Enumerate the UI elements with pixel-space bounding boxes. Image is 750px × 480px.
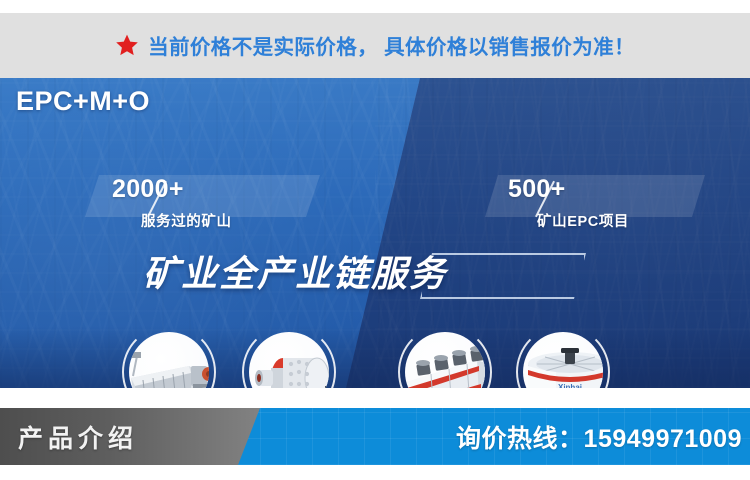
stat-label-projects: 矿山EPC项目 [537, 215, 629, 230]
epc-badge-text: EPC+M+O [16, 88, 150, 115]
bottom-section-bar: 产品介绍 询价热线：15949971009 [0, 408, 750, 465]
stat-number-mines: 2000+ [112, 177, 232, 202]
banner-headline: 矿业全产业链服务 [143, 256, 447, 292]
stat-number-projects: 500+ [508, 177, 629, 202]
section-title-product-intro: 产品介绍 [18, 419, 138, 455]
product-circle-spiral-classifier[interactable] [122, 325, 216, 388]
product-circle-thickener[interactable]: Xinhai [516, 325, 610, 388]
stat-block-mines-served: 2000+ 服务过的矿山 [112, 177, 232, 230]
hero-banner: 2000+ 服务过的矿山 500+ 矿山EPC项目 矿业全产业链服务 EPC+M… [0, 78, 750, 388]
product-circle-flotation-machine[interactable] [398, 325, 492, 388]
stat-block-epc-projects: 500+ 矿山EPC项目 [508, 177, 629, 230]
epc-badge-content: EPC+M+O [0, 78, 166, 124]
price-notice-content: 当前价格不是实际价格， 具体价格以销售报价为准！ [115, 30, 635, 60]
price-notice-text: 当前价格不是实际价格， 具体价格以销售报价为准！ [148, 30, 635, 60]
inquiry-hotline[interactable]: 询价热线：15949971009 [456, 419, 742, 455]
epc-badge-frame [420, 253, 586, 299]
product-circle-ball-mill[interactable] [242, 325, 336, 388]
banner-ground-shade [0, 326, 750, 388]
star-icon [115, 33, 139, 57]
stat-label-mines: 服务过的矿山 [141, 215, 232, 230]
price-notice-strip: 当前价格不是实际价格， 具体价格以销售报价为准！ [0, 13, 750, 78]
